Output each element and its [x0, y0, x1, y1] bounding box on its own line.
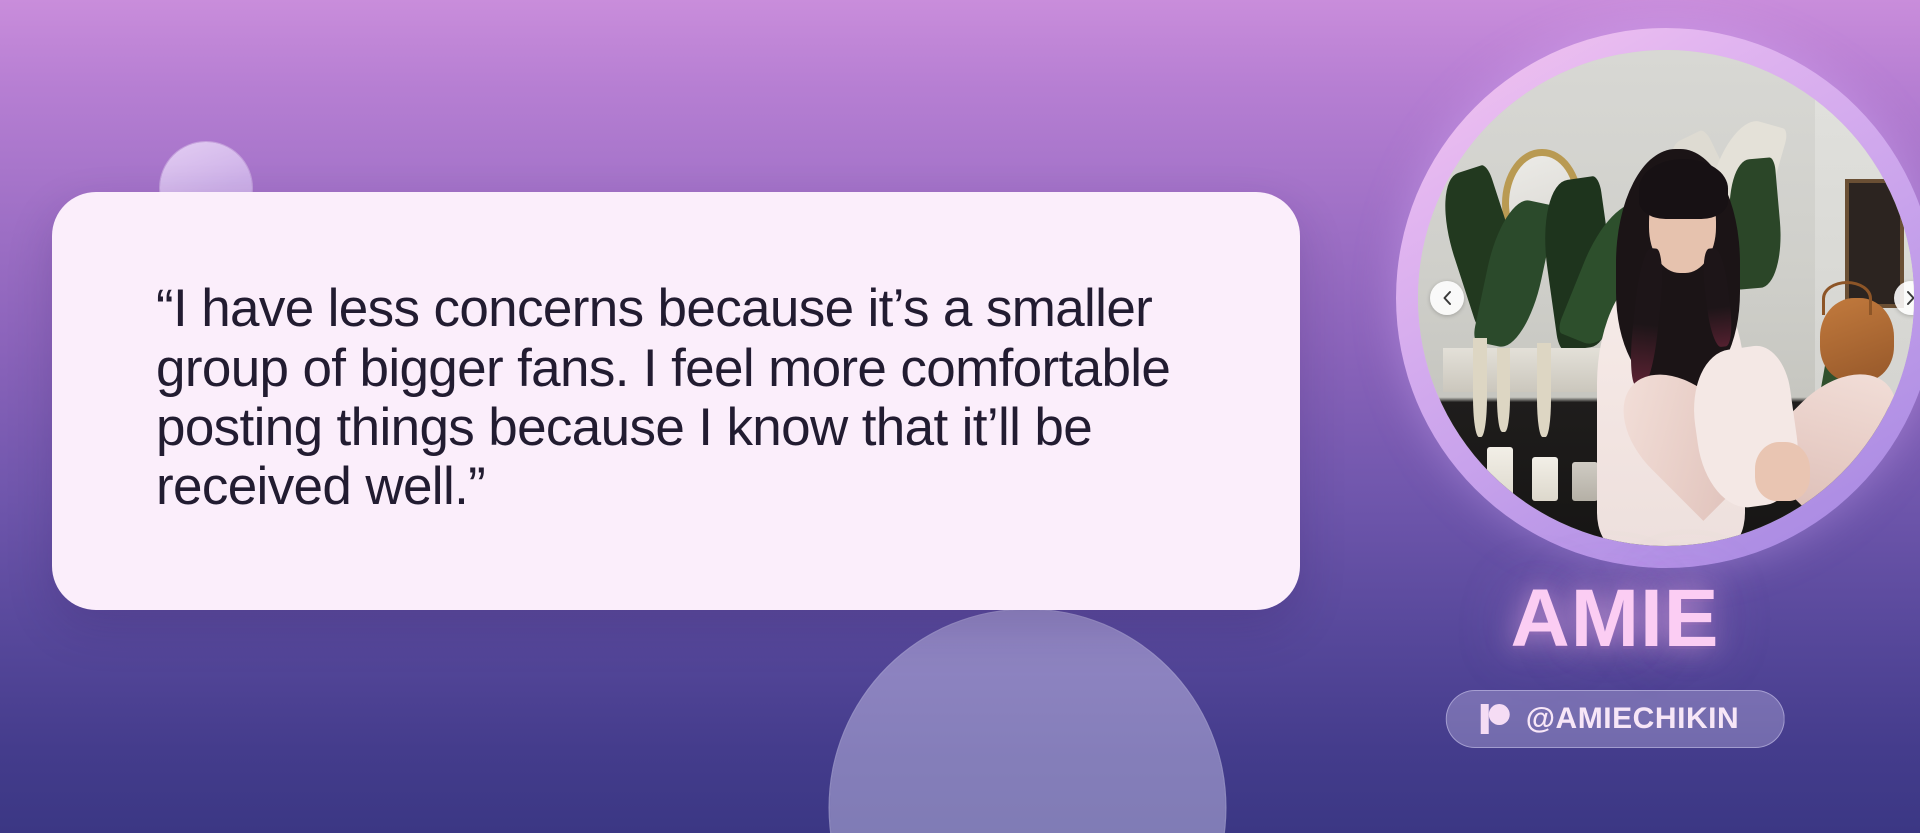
avatar-photo [1418, 50, 1914, 546]
person-bangs [1639, 159, 1728, 219]
decorative-circle-large [830, 610, 1225, 833]
chevron-left-icon [1441, 290, 1453, 306]
chevron-right-icon [1905, 290, 1914, 306]
candle [1572, 462, 1598, 502]
creator-handle-pill[interactable]: @AMIECHIKIN [1446, 690, 1785, 748]
portrait-image [1418, 50, 1914, 546]
quote-card: “I have less concerns because it’s a sma… [52, 192, 1300, 610]
macrame-tassel [1497, 348, 1510, 432]
patreon-logo-icon [1481, 704, 1510, 734]
creator-profile-column: AMIE @AMIECHIKIN [1310, 0, 1920, 833]
candle [1487, 447, 1513, 502]
candle [1532, 457, 1558, 502]
creator-name: AMIE [1310, 578, 1920, 660]
avatar-ring [1396, 28, 1920, 568]
creator-handle-text: @AMIECHIKIN [1526, 702, 1740, 736]
quote-text: “I have less concerns because it’s a sma… [52, 279, 1300, 516]
macrame-tassel [1537, 343, 1551, 437]
person-hand [1755, 442, 1810, 502]
macrame-tassel [1473, 338, 1488, 437]
testimonial-banner: “I have less concerns because it’s a sma… [0, 0, 1920, 833]
carousel-prev-button[interactable] [1430, 281, 1464, 315]
